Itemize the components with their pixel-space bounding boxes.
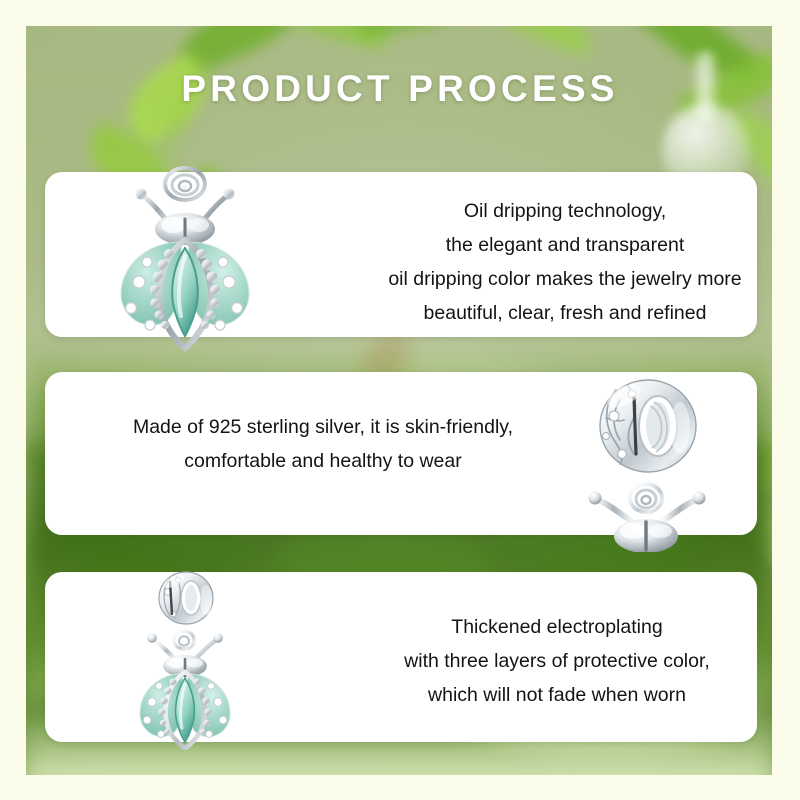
product-process-infographic: PRODUCT PROCESS Oil dripping technology,… bbox=[0, 0, 800, 800]
card-2-text: Made of 925 sterling silver, it is skin-… bbox=[63, 410, 583, 478]
leaf-shape-4 bbox=[454, 26, 597, 57]
card-2-line-2: comfortable and healthy to wear bbox=[63, 444, 583, 478]
card-1-line-1: Oil dripping technology, bbox=[345, 194, 785, 228]
card-3-line-2: with three layers of protective color, bbox=[337, 644, 777, 678]
bail-loop-icon bbox=[165, 168, 205, 200]
card-3-line-3: which will not fade when worn bbox=[337, 678, 777, 712]
card-1-line-4: beautiful, clear, fresh and refined bbox=[345, 296, 785, 330]
card-1-line-3: oil dripping color makes the jewelry mor… bbox=[345, 262, 785, 296]
engraved-bail-ring bbox=[159, 571, 213, 624]
engraved-bail-ring bbox=[600, 380, 696, 472]
card-1-text: Oil dripping technology, the elegant and… bbox=[345, 194, 785, 330]
page-title: PRODUCT PROCESS bbox=[0, 68, 800, 110]
antenna-tip-left bbox=[589, 492, 602, 505]
antenna-tip-right bbox=[224, 189, 235, 200]
antenna-tip-left bbox=[136, 189, 147, 200]
antenna-tip-right bbox=[213, 633, 223, 643]
card-2-line-1: Made of 925 sterling silver, it is skin-… bbox=[63, 410, 583, 444]
card-1-line-2: the elegant and transparent bbox=[345, 228, 785, 262]
card-3-text: Thickened electroplating with three laye… bbox=[337, 610, 777, 712]
engraved-bail-ring-closeup bbox=[576, 370, 724, 552]
beetle-charm-front-closeup bbox=[103, 162, 267, 352]
antenna-tip-right bbox=[693, 492, 706, 505]
card-3-line-1: Thickened electroplating bbox=[337, 610, 777, 644]
antenna-tip-left bbox=[147, 633, 157, 643]
full-dangle-charm bbox=[118, 566, 264, 750]
